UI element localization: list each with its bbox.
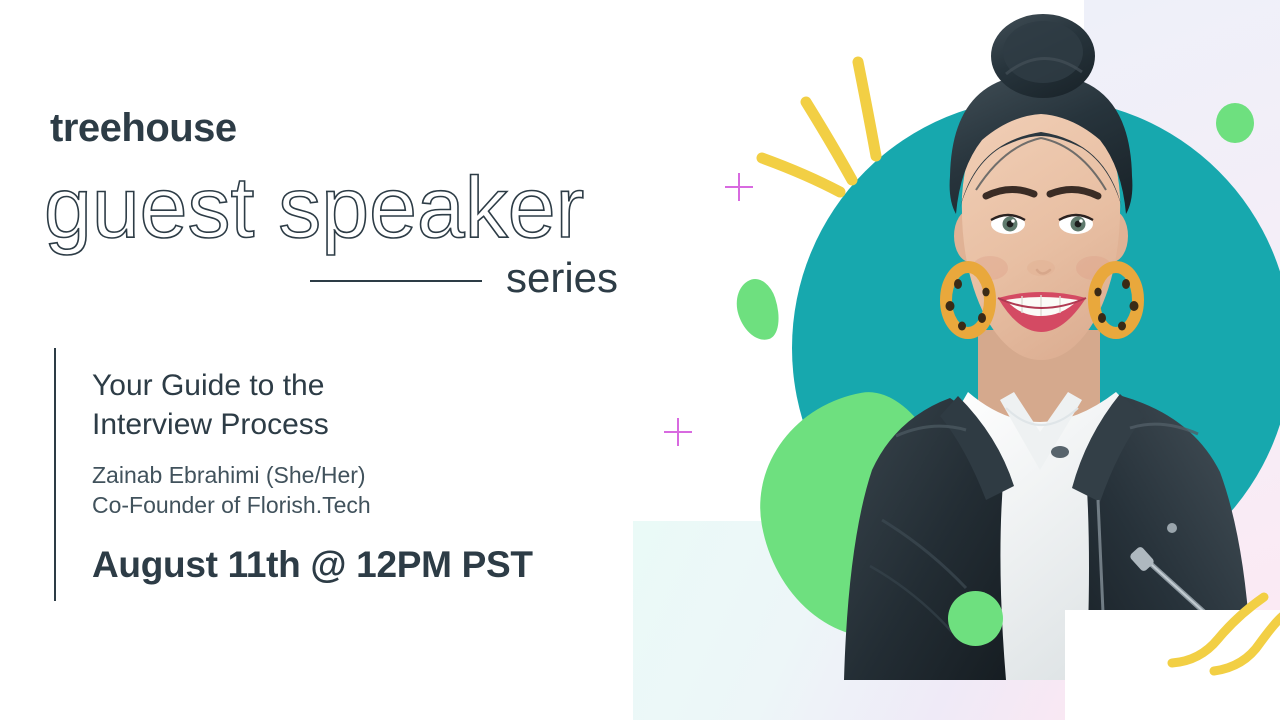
- guest-speaker-promo-graphic: treehouse guest speaker series Your Guid…: [0, 0, 1280, 720]
- speaker-role: Co-Founder of Florish.Tech: [92, 490, 632, 520]
- speaker-name: Zainab Ebrahimi (She/Her): [92, 460, 632, 490]
- series-divider-rule: [310, 280, 482, 282]
- event-datetime: August 11th @ 12PM PST: [92, 543, 632, 587]
- talk-title: Your Guide to the Interview Process: [92, 366, 632, 444]
- plus-vertical-bar: [677, 418, 679, 446]
- series-row: series: [310, 255, 625, 303]
- magenta-plus-icon-top: [725, 173, 753, 201]
- yellow-sunburst-strokes: [740, 40, 900, 200]
- magenta-plus-icon-middle: [664, 418, 692, 446]
- event-details-block: Your Guide to the Interview Process Zain…: [92, 366, 632, 587]
- plus-vertical-bar: [738, 173, 740, 201]
- details-vertical-rule: [54, 348, 56, 601]
- green-blob-small: [729, 274, 786, 345]
- green-circle-lower: [948, 591, 1003, 646]
- yellow-squiggle-strokes: [1160, 585, 1280, 680]
- series-label: series: [506, 255, 618, 301]
- treehouse-wordmark: treehouse: [50, 108, 237, 148]
- guest-speaker-headline: guest speaker: [44, 163, 584, 253]
